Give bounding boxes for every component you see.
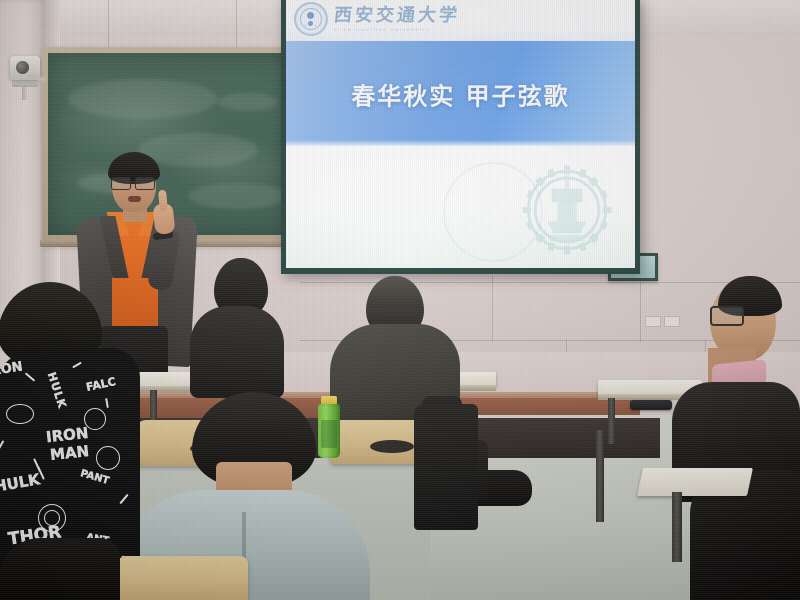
gear-emblem-watermark-icon	[509, 152, 625, 268]
light-switch-plate[interactable]	[645, 316, 661, 327]
projection-screen: 西安交通大学 XI'AN JIAOTONG UNIVERSITY 春华秋实 甲子…	[281, 0, 640, 274]
university-logo-subtitle: XI'AN JIAOTONG UNIVERSITY	[334, 27, 460, 32]
chair-handle-slot	[370, 440, 414, 453]
print-doodle	[96, 446, 120, 470]
chair-back[interactable]	[118, 556, 248, 600]
print-doodle	[84, 408, 106, 430]
university-logo-text: 西安交通大学	[333, 6, 461, 24]
print-word: MAN	[49, 442, 90, 464]
wall-seam	[108, 0, 109, 48]
wall-seam	[236, 0, 237, 48]
print-word: HULK	[45, 371, 69, 411]
audience-member-right	[688, 276, 800, 496]
presenter-raised-finger	[158, 190, 168, 213]
slide-header: 西安交通大学 XI'AN JIAOTONG UNIVERSITY	[286, 0, 635, 41]
audience-member-mid-left	[188, 258, 284, 388]
audience-body	[190, 306, 284, 398]
print-word: IRON	[0, 360, 24, 380]
security-camera-icon	[8, 56, 48, 102]
audience-glasses-icon	[710, 306, 744, 326]
photo-canvas: 西安交通大学 XI'AN JIAOTONG UNIVERSITY 春华秋实 甲子…	[0, 0, 800, 600]
audience-coat-tail	[414, 404, 478, 530]
print-word: FALC	[85, 375, 117, 394]
desk-leg	[608, 398, 615, 444]
projected-slide: 西安交通大学 XI'AN JIAOTONG UNIVERSITY 春华秋实 甲子…	[286, 0, 635, 268]
wall-seam	[640, 276, 641, 342]
print-doodle	[6, 404, 34, 424]
university-seal-icon	[294, 2, 328, 36]
slide-title-band: 春华秋实 甲子弦歌	[286, 41, 635, 146]
wall-seam	[492, 276, 493, 342]
light-switch-plate[interactable]	[664, 316, 680, 327]
print-word: PANT	[79, 468, 110, 487]
audience-member-bottom-left	[0, 538, 120, 600]
desk-leg	[672, 492, 682, 562]
slide-title: 春华秋实 甲子弦歌	[286, 76, 635, 111]
desk-leg	[596, 430, 604, 522]
print-doodle	[44, 510, 60, 526]
slide-body	[286, 146, 635, 268]
presenter-mouth	[128, 196, 141, 202]
presenter-glasses-icon	[111, 177, 157, 188]
print-word: HULK	[0, 470, 41, 496]
university-logo: 西安交通大学 XI'AN JIAOTONG UNIVERSITY	[286, 2, 460, 36]
desk-top	[637, 468, 753, 496]
smartphone-on-desk[interactable]	[630, 400, 672, 410]
